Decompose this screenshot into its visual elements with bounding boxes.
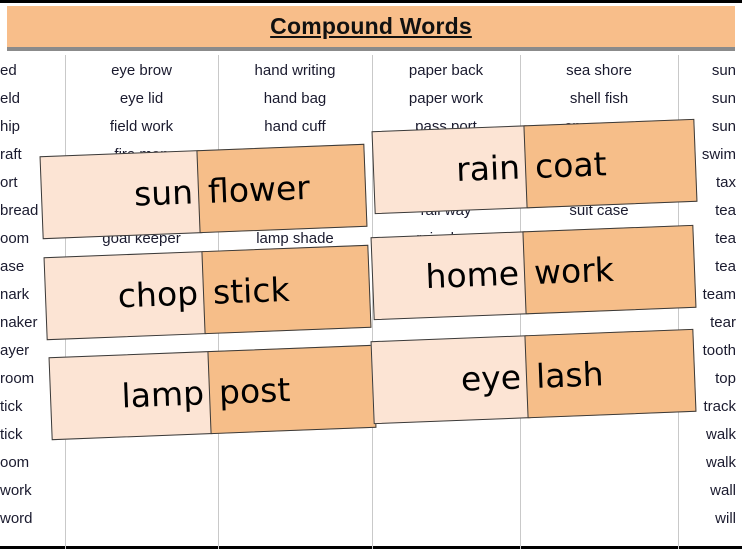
tile-flower[interactable]: flower bbox=[196, 144, 367, 233]
page-title: Compound Words bbox=[270, 13, 472, 40]
tile-stick[interactable]: stick bbox=[201, 245, 371, 334]
word-item: tick bbox=[0, 421, 23, 449]
word-item: hand bag bbox=[218, 85, 372, 113]
tile-word: coat bbox=[534, 144, 607, 186]
word-item: will bbox=[715, 505, 736, 533]
tile-chop[interactable]: chop bbox=[44, 251, 208, 340]
word-item: tea bbox=[715, 253, 736, 281]
word-item: bread bbox=[0, 197, 38, 225]
word-item: tea bbox=[715, 197, 736, 225]
word-item: shell fish bbox=[520, 85, 678, 113]
tile-pair-eyelash[interactable]: eye lash bbox=[371, 329, 697, 424]
word-item: sun bbox=[712, 113, 736, 141]
tile-home[interactable]: home bbox=[371, 231, 529, 320]
word-item: track bbox=[703, 393, 736, 421]
word-item: eld bbox=[0, 85, 20, 113]
word-item: hand cuff bbox=[218, 113, 372, 141]
worksheet-page: Compound Words edeldhipraftortbreadoomas… bbox=[0, 0, 742, 549]
word-item: eye brow bbox=[65, 57, 218, 85]
word-item: ase bbox=[0, 253, 24, 281]
tile-word: post bbox=[218, 370, 291, 412]
word-item: paper back bbox=[372, 57, 520, 85]
word-item: ed bbox=[0, 57, 17, 85]
tile-word: sun bbox=[133, 172, 193, 213]
word-item: word bbox=[0, 505, 33, 533]
tile-pair-raincoat[interactable]: rain coat bbox=[372, 119, 698, 214]
tile-rain[interactable]: rain bbox=[372, 125, 530, 214]
tile-word: flower bbox=[207, 168, 310, 211]
tile-coat[interactable]: coat bbox=[523, 119, 697, 209]
tile-word: eye bbox=[460, 357, 522, 398]
word-item: wall bbox=[710, 477, 736, 505]
tile-pair-homework[interactable]: home work bbox=[371, 225, 697, 320]
word-item: tea bbox=[715, 225, 736, 253]
word-item: team bbox=[703, 281, 736, 309]
word-item: tick bbox=[0, 393, 23, 421]
word-item: eye lid bbox=[65, 85, 218, 113]
word-item: naker bbox=[0, 309, 38, 337]
tile-pair-chopstick[interactable]: chop stick bbox=[44, 245, 372, 340]
tile-word: lash bbox=[535, 354, 604, 396]
word-item: walk bbox=[706, 421, 736, 449]
tile-word: home bbox=[425, 254, 520, 297]
word-item: ort bbox=[0, 169, 18, 197]
word-item: oom bbox=[0, 449, 29, 477]
tile-word: lamp bbox=[121, 373, 205, 415]
tile-word: work bbox=[533, 250, 614, 292]
title-banner: Compound Words bbox=[7, 6, 735, 51]
tile-work[interactable]: work bbox=[522, 225, 696, 315]
tile-pair-lamppost[interactable]: lamp post bbox=[49, 345, 377, 440]
word-item: sun bbox=[712, 57, 736, 85]
tile-word: chop bbox=[117, 273, 199, 315]
tile-word: rain bbox=[455, 148, 520, 189]
word-item: room bbox=[0, 365, 34, 393]
tile-eye[interactable]: eye bbox=[371, 335, 531, 424]
tile-lash[interactable]: lash bbox=[524, 329, 696, 418]
tile-sun[interactable]: sun bbox=[40, 150, 203, 239]
word-item: sea shore bbox=[520, 57, 678, 85]
word-item: tear bbox=[710, 309, 736, 337]
tile-lamp[interactable]: lamp bbox=[49, 351, 214, 440]
word-item: hip bbox=[0, 113, 20, 141]
word-item: swim bbox=[702, 141, 736, 169]
tile-pair-sunflower[interactable]: sun flower bbox=[40, 144, 368, 239]
tile-word: stick bbox=[212, 270, 290, 312]
word-item: hand writing bbox=[218, 57, 372, 85]
word-item: paper work bbox=[372, 85, 520, 113]
word-item: oom bbox=[0, 225, 29, 253]
word-item: work bbox=[0, 477, 32, 505]
word-item: raft bbox=[0, 141, 22, 169]
word-item: sun bbox=[712, 85, 736, 113]
word-item: top bbox=[715, 365, 736, 393]
word-item: ayer bbox=[0, 337, 29, 365]
tile-post[interactable]: post bbox=[207, 345, 376, 434]
word-item: tooth bbox=[703, 337, 736, 365]
word-item: tax bbox=[716, 169, 736, 197]
word-item: field work bbox=[65, 113, 218, 141]
word-item: walk bbox=[706, 449, 736, 477]
word-item: nark bbox=[0, 281, 29, 309]
